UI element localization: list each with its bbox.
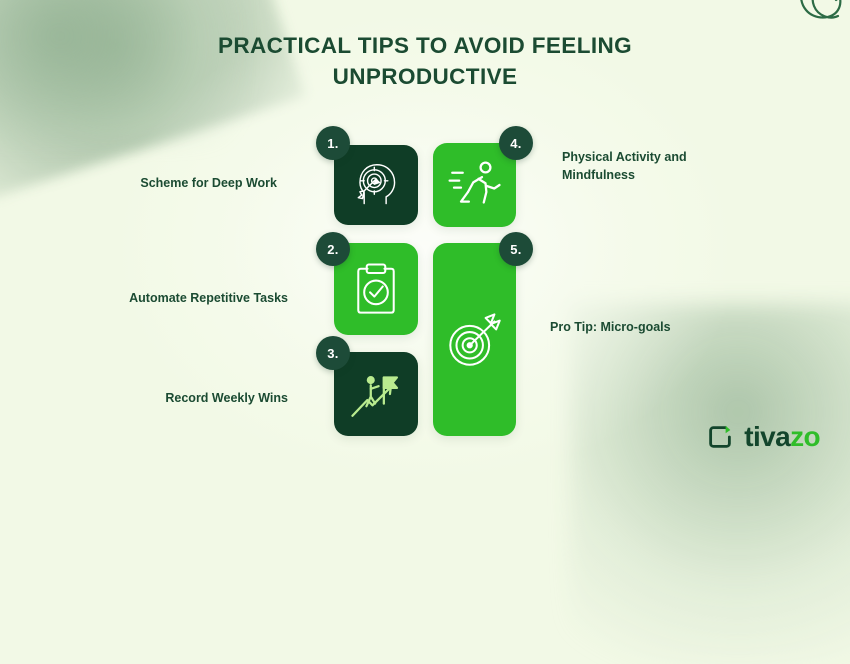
- tip-badge-4: 4.: [499, 126, 533, 160]
- tip-card-5[interactable]: [433, 243, 516, 436]
- logo-wordmark: tivazo: [744, 423, 820, 451]
- clipboard-check-icon: [352, 262, 400, 316]
- target-dart-arrow-icon: [445, 310, 505, 370]
- tip-label-2: Automate Repetitive Tasks: [8, 289, 288, 307]
- running-person-icon: [447, 158, 503, 212]
- logo-word-bright: zo: [790, 421, 820, 452]
- tip-card-3[interactable]: [334, 352, 418, 436]
- tip-badge-1: 1.: [316, 126, 350, 160]
- tip-label-3: Record Weekly Wins: [8, 389, 288, 407]
- tip-badge-3: 3.: [316, 336, 350, 370]
- page-title: PRACTICAL TIPS TO AVOID FEELING UNPRODUC…: [0, 30, 850, 92]
- tip-label-5: Pro Tip: Micro-goals: [550, 318, 750, 336]
- tip-badge-5: 5.: [499, 232, 533, 266]
- tip-label-4: Physical Activity and Mindfulness: [562, 148, 742, 184]
- brand-logo[interactable]: tivazo: [705, 422, 820, 452]
- person-climbing-arrow-flag-icon: [348, 367, 404, 421]
- tip-card-4[interactable]: [433, 143, 516, 227]
- logo-word-dark: tiva: [744, 421, 790, 452]
- tip-card-1[interactable]: [334, 145, 418, 225]
- tip-badge-2: 2.: [316, 232, 350, 266]
- head-target-arrow-icon: [349, 158, 403, 212]
- tivazo-bracket-flag-icon: [705, 422, 735, 452]
- tip-label-1: Scheme for Deep Work: [0, 174, 277, 192]
